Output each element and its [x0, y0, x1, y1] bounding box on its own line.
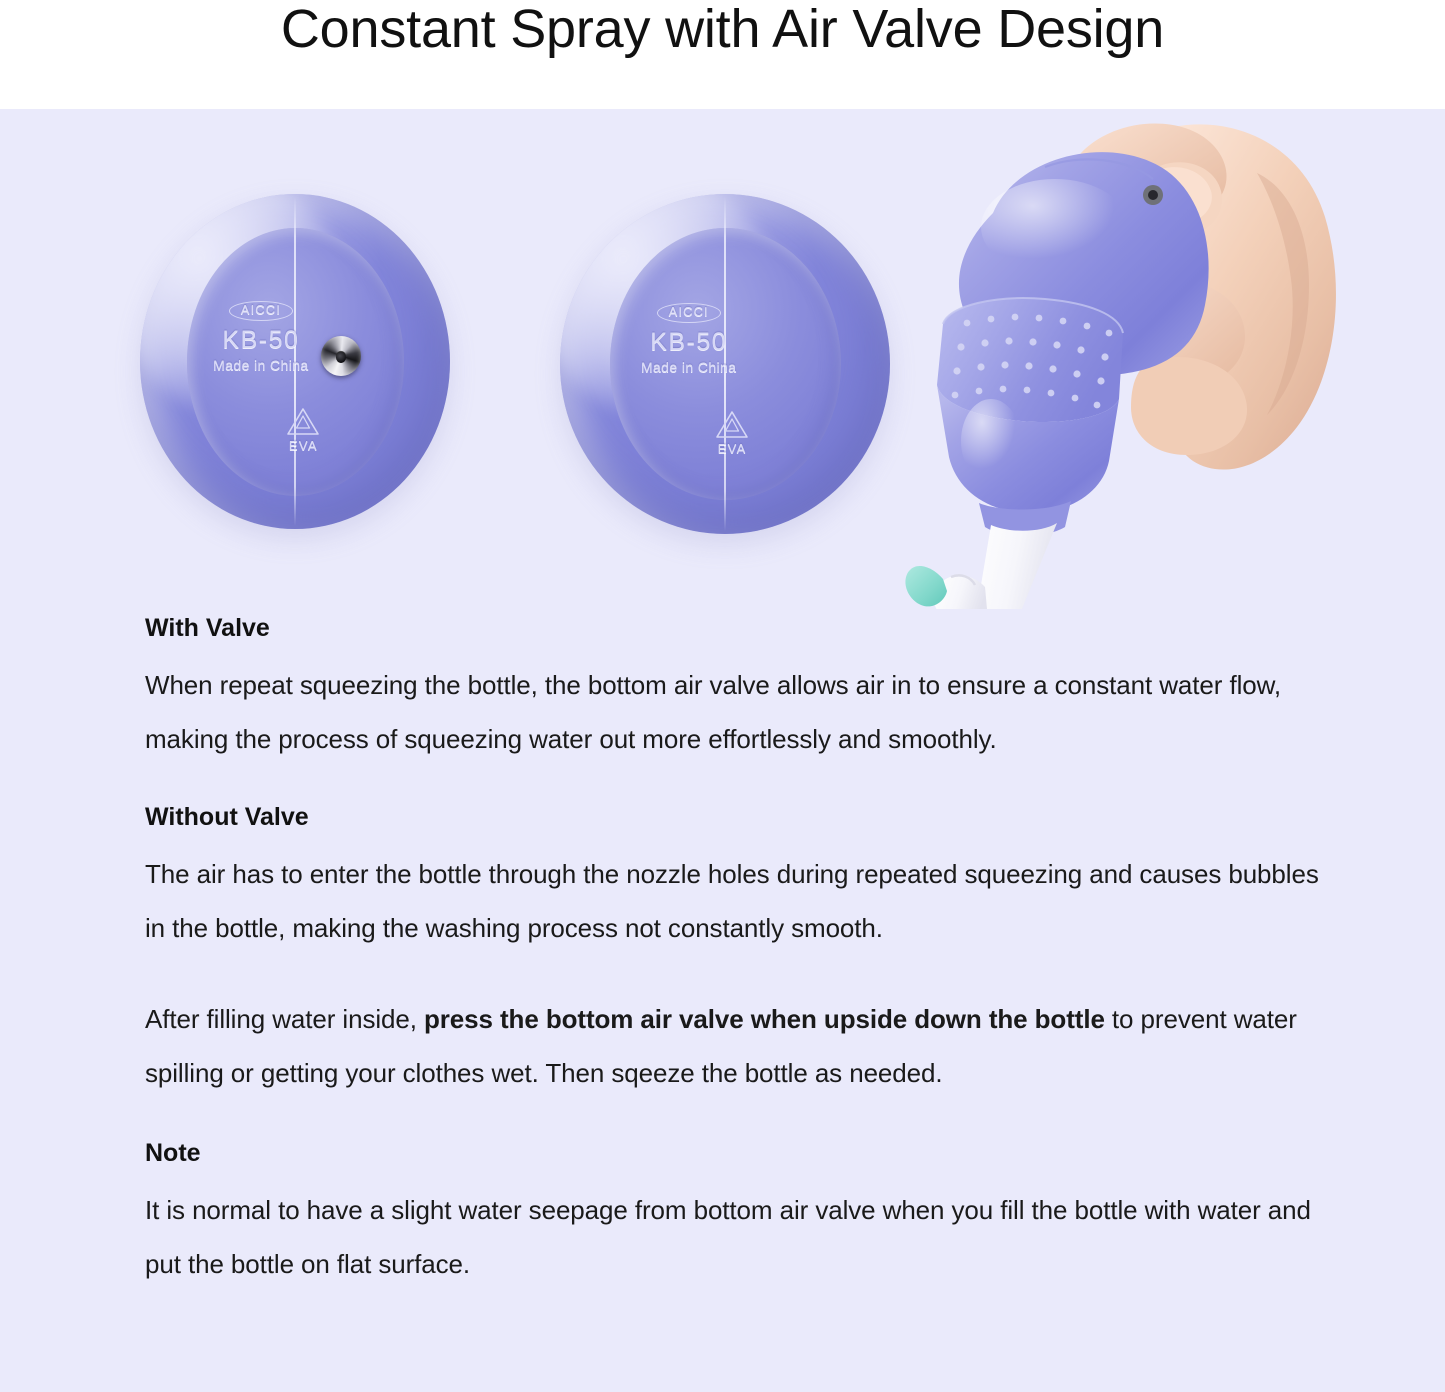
- recycle-triangle-icon: [713, 408, 751, 441]
- material-code: EVA: [705, 442, 759, 455]
- bottle-cap-with-valve-photo: AICCI KB-50 Made in China EVA: [140, 194, 450, 529]
- section-body-with-valve: When repeat squeezing the bottle, the bo…: [145, 658, 1335, 767]
- hand-holding-bottle-photo: [905, 109, 1360, 609]
- section-without-valve: Without Valve The air has to enter the b…: [145, 801, 1335, 956]
- material-code: EVA: [276, 439, 330, 452]
- cap-outer-ring: AICCI KB-50 Made in China EVA: [140, 194, 450, 529]
- page-title: Constant Spray with Air Valve Design: [281, 0, 1164, 56]
- product-photo-strip: AICCI KB-50 Made in China EVA: [0, 109, 1445, 609]
- cap-mould-seam: [724, 197, 726, 530]
- title-band: Constant Spray with Air Valve Design: [0, 0, 1445, 109]
- bottle-lower-highlight: [961, 399, 1021, 483]
- recycling-mark: EVA: [276, 405, 330, 452]
- nozzle-mint-tip: [905, 566, 947, 606]
- instruction-lead-text: After filling water inside,: [145, 1004, 424, 1034]
- instruction-emphasis-text: press the bottom air valve when upside d…: [424, 1004, 1105, 1034]
- air-valve-center: [1148, 190, 1158, 200]
- section-body-note: It is normal to have a slight water seep…: [145, 1183, 1335, 1292]
- instructions-content: With Valve When repeat squeezing the bot…: [145, 612, 1335, 1326]
- section-body-without-valve: The air has to enter the bottle through …: [145, 847, 1335, 956]
- bottle-cap-without-valve-photo: AICCI KB-50 Made in China EVA: [560, 194, 890, 534]
- bottle-bulb-highlight: [981, 179, 1129, 275]
- recycling-mark: EVA: [705, 408, 759, 455]
- usage-instruction-paragraph: After filling water inside, press the bo…: [145, 992, 1335, 1101]
- section-heading-note: Note: [145, 1137, 1335, 1171]
- cap-mould-seam: [294, 197, 296, 525]
- section-heading-with-valve: With Valve: [145, 612, 1335, 646]
- section-heading-without-valve: Without Valve: [145, 801, 1335, 835]
- section-note: Note It is normal to have a slight water…: [145, 1137, 1335, 1292]
- recycle-triangle-icon: [284, 405, 322, 438]
- product-infographic-page: Constant Spray with Air Valve Design AIC…: [0, 0, 1445, 1392]
- cap-outer-ring: AICCI KB-50 Made in China EVA: [560, 194, 890, 534]
- section-with-valve: With Valve When repeat squeezing the bot…: [145, 612, 1335, 767]
- section-usage-instruction: After filling water inside, press the bo…: [145, 992, 1335, 1101]
